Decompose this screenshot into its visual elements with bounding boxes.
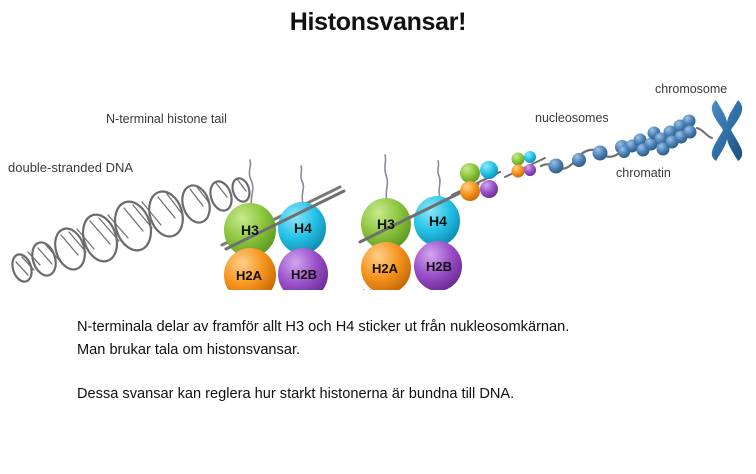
label-double-stranded-dna: double-stranded DNA — [8, 160, 133, 175]
paragraph-2: Dessa svansar kan reglera hur starkt his… — [77, 383, 737, 406]
paragraph-1-line-2: Man brukar tala om histonsvansar. — [77, 339, 737, 362]
chromosome-shape — [712, 100, 742, 161]
n-terminal-histone-tail-h3-b — [385, 155, 388, 202]
label-nucleosomes: nucleosomes — [535, 111, 609, 125]
histone-h2a-label-2: H2A — [372, 261, 399, 276]
histone-h2b-label: H2B — [291, 267, 317, 282]
nucleosome-bead — [572, 153, 586, 167]
n-terminal-histone-tail-h4-b — [438, 161, 440, 197]
nucleosome-bead — [593, 146, 608, 161]
dna-packaging-svg: H3 H4 H2A H2B H3 H4 H2A H2B — [0, 60, 756, 290]
paragraph-2-line-1: Dessa svansar kan reglera hur starkt his… — [77, 383, 737, 406]
body-text: N-terminala delar av framför allt H3 och… — [77, 316, 737, 406]
label-histone-proteins: histone proteins — [362, 288, 450, 290]
histone-h3-label-2: H3 — [377, 216, 395, 232]
histone-h2b-label-2: H2B — [426, 259, 452, 274]
label-chromosome: chromosome — [655, 82, 727, 96]
double-stranded-dna-helix — [9, 176, 252, 284]
nucleosome-bead — [549, 159, 564, 174]
paragraph-1: N-terminala delar av framför allt H3 och… — [77, 316, 737, 361]
histone-h4-label-2: H4 — [429, 213, 447, 229]
nucleosome-cluster-3 — [452, 161, 500, 201]
histone-h3-label: H3 — [241, 222, 259, 238]
nucleosome-cluster-4 — [505, 151, 545, 178]
page-title: Histonsvansar! — [0, 8, 756, 37]
n-terminal-histone-tail-h3 — [249, 160, 252, 208]
dna-packaging-figure: H3 H4 H2A H2B H3 H4 H2A H2B — [0, 60, 756, 290]
histone-h4-label: H4 — [294, 220, 312, 236]
chromatin-fiber — [618, 115, 712, 159]
paragraph-1-line-1: N-terminala delar av framför allt H3 och… — [77, 316, 737, 339]
label-chromatin: chromatin — [616, 166, 671, 180]
label-n-terminal-histone-tail: N-terminal histone tail — [106, 112, 227, 126]
n-terminal-histone-tail-h4 — [301, 166, 304, 203]
histone-h2a-label: H2A — [236, 268, 263, 283]
